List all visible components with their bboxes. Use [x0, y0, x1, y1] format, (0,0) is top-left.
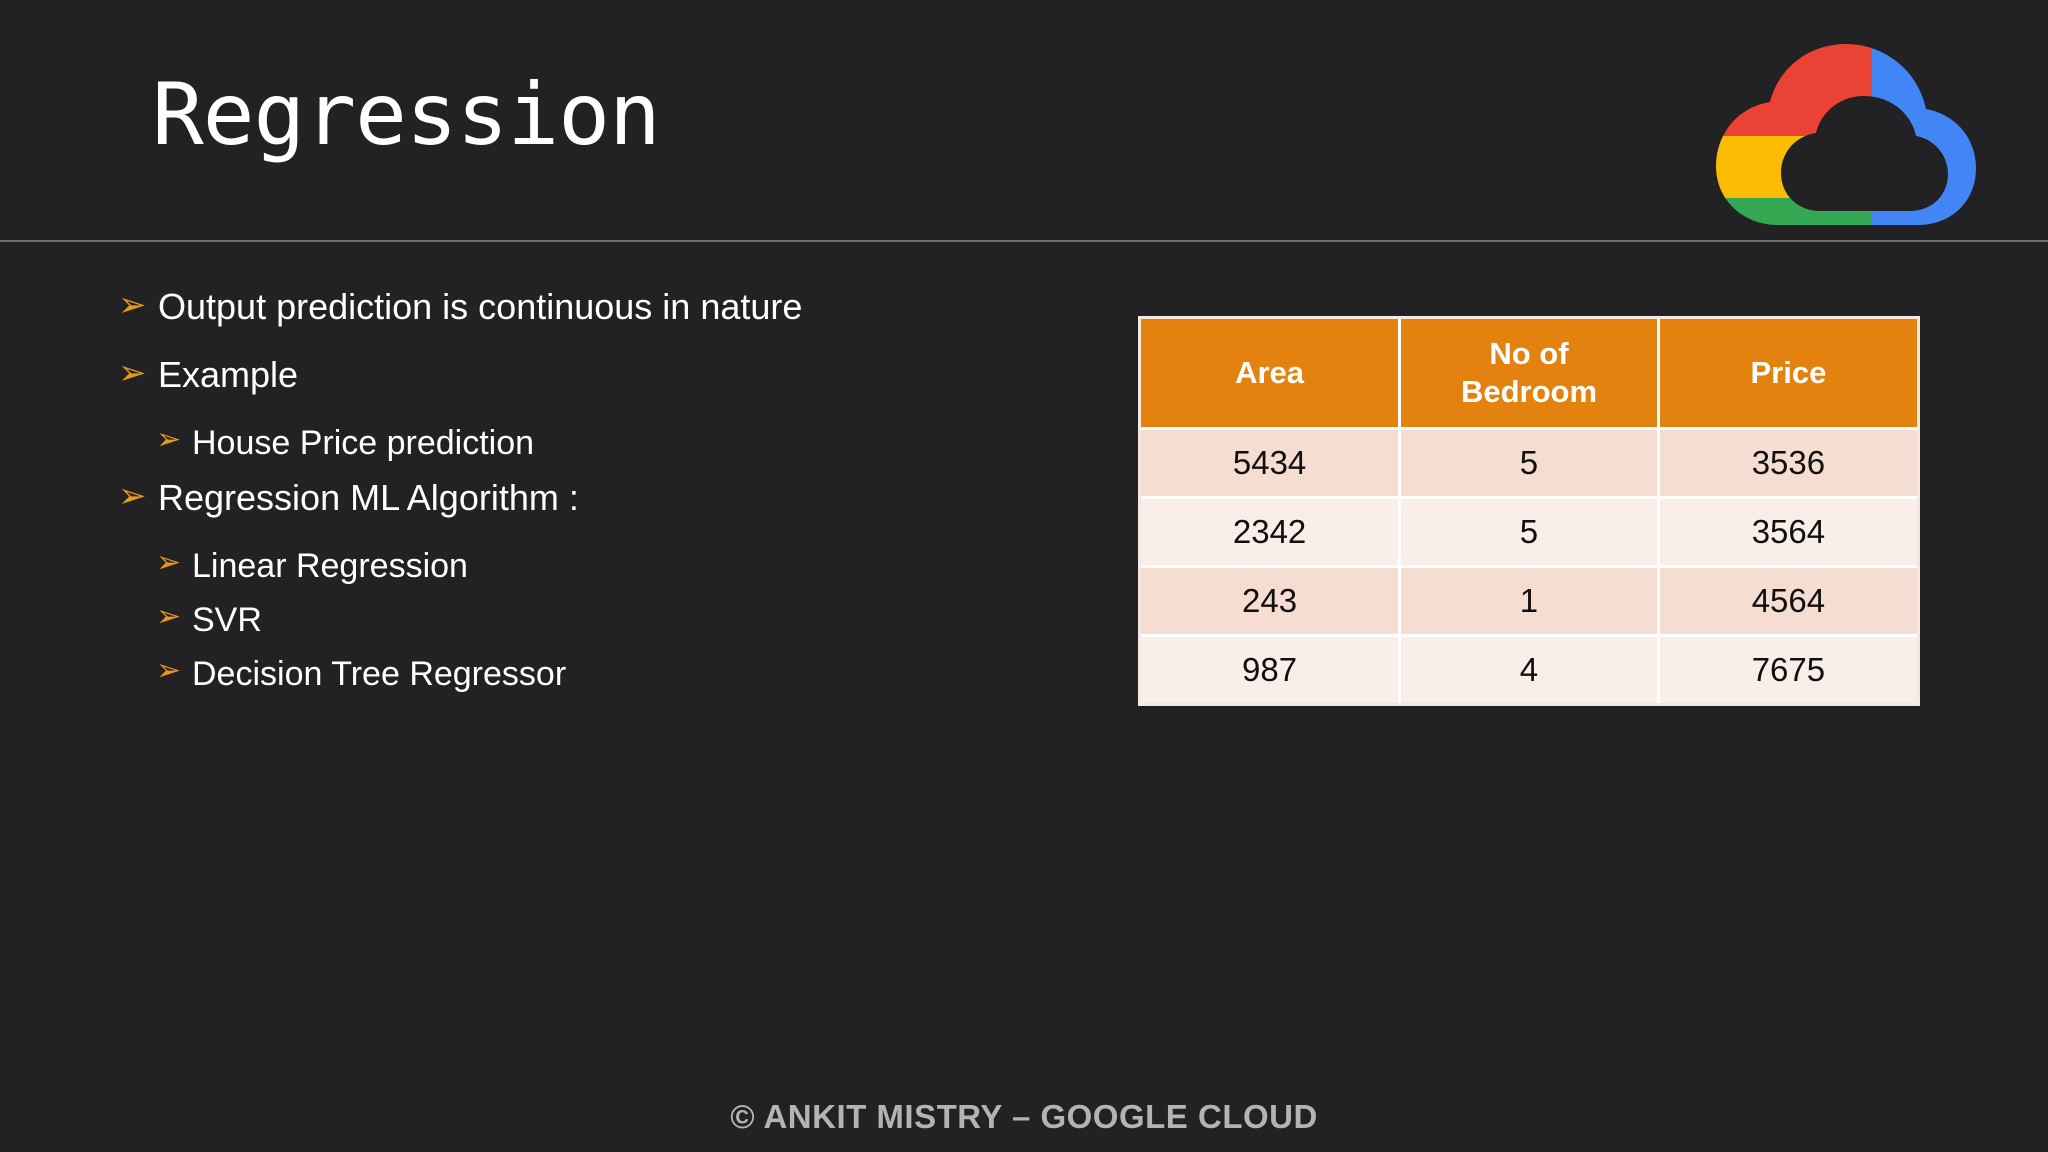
cell-area: 243 [1141, 567, 1400, 636]
slide-canvas: Regression [0, 0, 2048, 1152]
table-row: 987 4 7675 [1141, 636, 1917, 704]
arrow-bullet-icon: ➢ [118, 479, 158, 513]
house-price-table: Area No of Bedroom Price 5434 5 3536 234… [1138, 316, 1920, 706]
title-divider [0, 240, 2048, 242]
cell-bedrooms: 5 [1400, 498, 1659, 567]
footer-credit: © ANKIT MISTRY – GOOGLE CLOUD [0, 1098, 2048, 1136]
list-item: ➢ Example [118, 354, 1018, 396]
arrow-bullet-icon: ➢ [118, 356, 158, 390]
list-item: ➢ House Price prediction [156, 423, 1018, 463]
list-item-label: House Price prediction [192, 423, 534, 463]
cell-price: 3536 [1658, 429, 1917, 498]
list-item: ➢ Decision Tree Regressor [156, 654, 1018, 694]
cell-price: 3564 [1658, 498, 1917, 567]
cell-bedrooms: 1 [1400, 567, 1659, 636]
list-item-label: Output prediction is continuous in natur… [158, 286, 802, 328]
table-header-no-of-bedroom: No of Bedroom [1400, 319, 1659, 429]
list-item: ➢ Regression ML Algorithm : [118, 477, 1018, 519]
table-row: 2342 5 3564 [1141, 498, 1917, 567]
table-header-price: Price [1658, 319, 1917, 429]
list-item: ➢ Linear Regression [156, 546, 1018, 586]
cell-price: 4564 [1658, 567, 1917, 636]
cell-bedrooms: 5 [1400, 429, 1659, 498]
table-header-area: Area [1141, 319, 1400, 429]
cell-price: 7675 [1658, 636, 1917, 704]
arrow-bullet-icon: ➢ [156, 656, 192, 686]
table-row: 243 1 4564 [1141, 567, 1917, 636]
list-item: ➢ SVR [156, 600, 1018, 640]
list-item-label: Linear Regression [192, 546, 468, 586]
arrow-bullet-icon: ➢ [156, 425, 192, 455]
table-header-no-of-bedroom-text: No of Bedroom [1461, 336, 1597, 409]
page-title: Regression [152, 72, 660, 158]
bullet-list: ➢ Output prediction is continuous in nat… [118, 286, 1018, 708]
arrow-bullet-icon: ➢ [156, 602, 192, 632]
list-item: ➢ Output prediction is continuous in nat… [118, 286, 1018, 328]
cell-bedrooms: 4 [1400, 636, 1659, 704]
list-item-label: Decision Tree Regressor [192, 654, 566, 694]
table-header-row: Area No of Bedroom Price [1141, 319, 1917, 429]
list-item-label: SVR [192, 600, 262, 640]
cell-area: 5434 [1141, 429, 1400, 498]
cell-area: 2342 [1141, 498, 1400, 567]
cell-area: 987 [1141, 636, 1400, 704]
arrow-bullet-icon: ➢ [118, 288, 158, 322]
table-row: 5434 5 3536 [1141, 429, 1917, 498]
list-item-label: Example [158, 354, 298, 396]
arrow-bullet-icon: ➢ [156, 548, 192, 578]
list-item-label: Regression ML Algorithm : [158, 477, 579, 519]
google-cloud-logo [1712, 36, 1980, 231]
